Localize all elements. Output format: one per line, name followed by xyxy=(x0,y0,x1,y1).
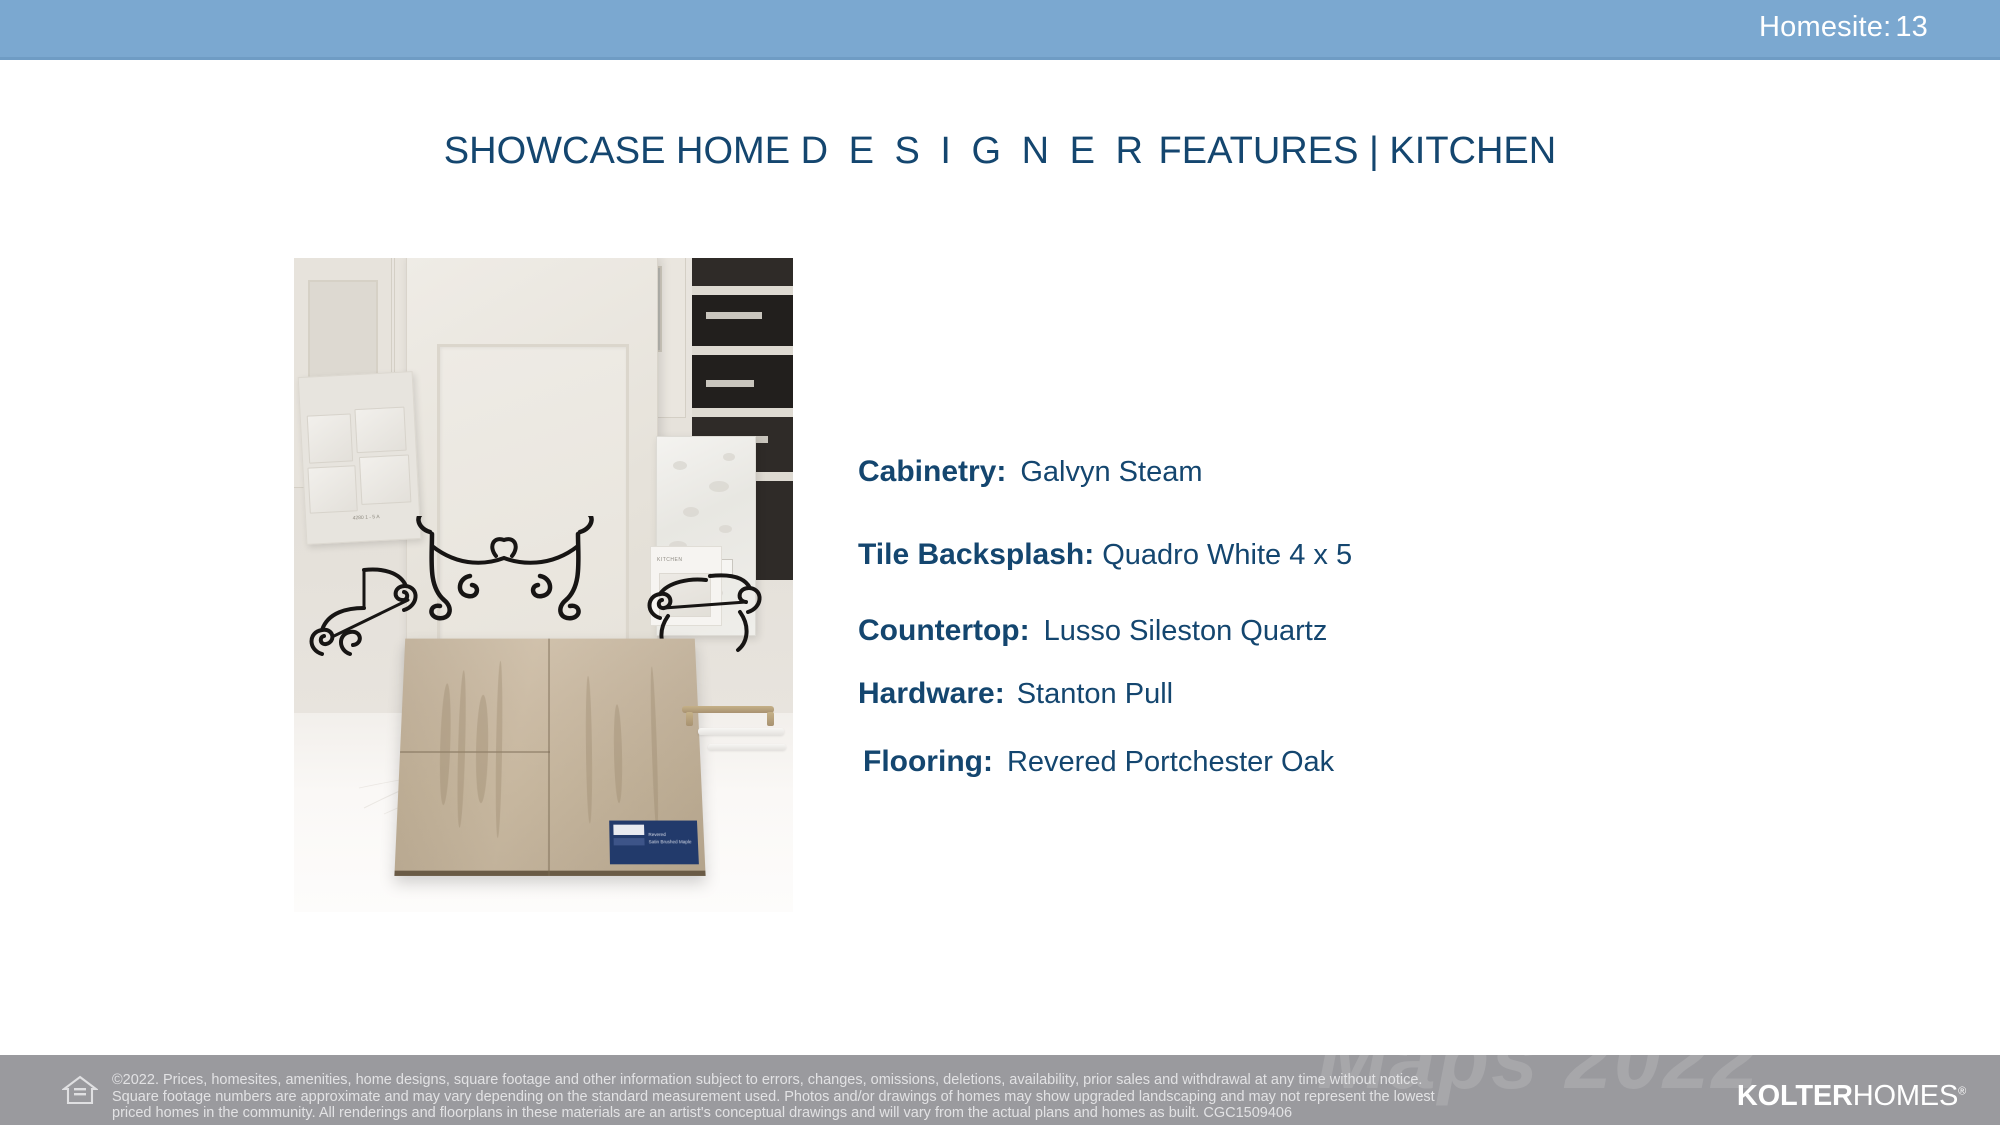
spec-card-label: KITCHEN xyxy=(657,557,682,563)
flooring-tag-line2: Satin Brushed Maple xyxy=(649,839,692,844)
logo-kolter-text: KOLTER xyxy=(1737,1080,1853,1112)
tile-backsplash-sample: 4280 1 - 5 A xyxy=(298,371,422,545)
cabinet-pull-hardware xyxy=(682,706,774,713)
footer-disclaimer-line-3: priced homes in the community. All rende… xyxy=(112,1105,1692,1122)
feature-label-backsplash: Tile Backsplash: xyxy=(858,538,1094,572)
feature-value-countertop: Lusso Sileston Quartz xyxy=(1044,615,1328,648)
footer-disclaimer: ©2022. Prices, homesites, amenities, hom… xyxy=(112,1072,1692,1122)
feature-row-cabinetry: Cabinetry: Galvyn Steam xyxy=(858,455,1918,489)
wood-flooring-sample: Revered Satin Brushed Maple xyxy=(394,639,705,876)
white-trim-stick-2 xyxy=(708,744,786,750)
designer-features-list: Cabinetry: Galvyn Steam Tile Backsplash:… xyxy=(858,455,1918,779)
feature-value-cabinetry: Galvyn Steam xyxy=(1020,456,1202,489)
feature-label-flooring: Flooring: xyxy=(863,745,993,779)
feature-label-countertop: Countertop: xyxy=(858,614,1030,648)
header-band xyxy=(0,0,2000,60)
title-part-designer: D E S I G N E R xyxy=(801,130,1148,172)
white-trim-stick-1 xyxy=(698,728,784,735)
equal-housing-opportunity-icon xyxy=(62,1074,98,1106)
homesite-number: 13 xyxy=(1895,11,1928,43)
kitchen-selections-photo: 4280 1 - 5 A LEVEL 4 KITCHEN xyxy=(294,258,793,912)
feature-value-backsplash: Quadro White 4 x 5 xyxy=(1102,539,1352,572)
footer-disclaimer-line-2: Square footage numbers are approximate a… xyxy=(112,1089,1692,1106)
homesite-label: Homesite:13 xyxy=(1759,11,1928,44)
feature-value-hardware: Stanton Pull xyxy=(1017,678,1173,711)
feature-label-cabinetry: Cabinetry: xyxy=(858,455,1006,489)
feature-row-flooring: Flooring: Revered Portchester Oak xyxy=(858,745,1918,779)
logo-registered-mark: ® xyxy=(1958,1085,1966,1097)
footer-disclaimer-line-1: ©2022. Prices, homesites, amenities, hom… xyxy=(112,1072,1692,1089)
feature-row-hardware: Hardware: Stanton Pull xyxy=(858,677,1918,711)
logo-homes-text: HOMES xyxy=(1853,1080,1958,1112)
feature-value-flooring: Revered Portchester Oak xyxy=(1007,746,1334,779)
photo-inner: 4280 1 - 5 A LEVEL 4 KITCHEN xyxy=(294,258,793,912)
tile-sample-label: 4280 1 - 5 A xyxy=(336,513,396,523)
feature-row-backsplash: Tile Backsplash: Quadro White 4 x 5 xyxy=(858,538,1918,572)
flooring-tag-line1: Revered xyxy=(648,832,666,837)
homesite-label-text: Homesite: xyxy=(1759,11,1891,43)
title-part-1: SHOWCASE HOME xyxy=(444,130,801,172)
easel-stand-center xyxy=(410,516,600,636)
title-part-3: FEATURES | KITCHEN xyxy=(1148,130,1556,172)
feature-row-countertop: Countertop: Lusso Sileston Quartz xyxy=(858,614,1918,648)
kolter-homes-logo: KOLTERHOMES® xyxy=(1737,1080,1966,1113)
flooring-sample-tag: Revered Satin Brushed Maple xyxy=(609,821,699,865)
page-title: SHOWCASE HOME D E S I G N E R FEATURES |… xyxy=(0,130,2000,173)
feature-label-hardware: Hardware: xyxy=(858,677,1005,711)
